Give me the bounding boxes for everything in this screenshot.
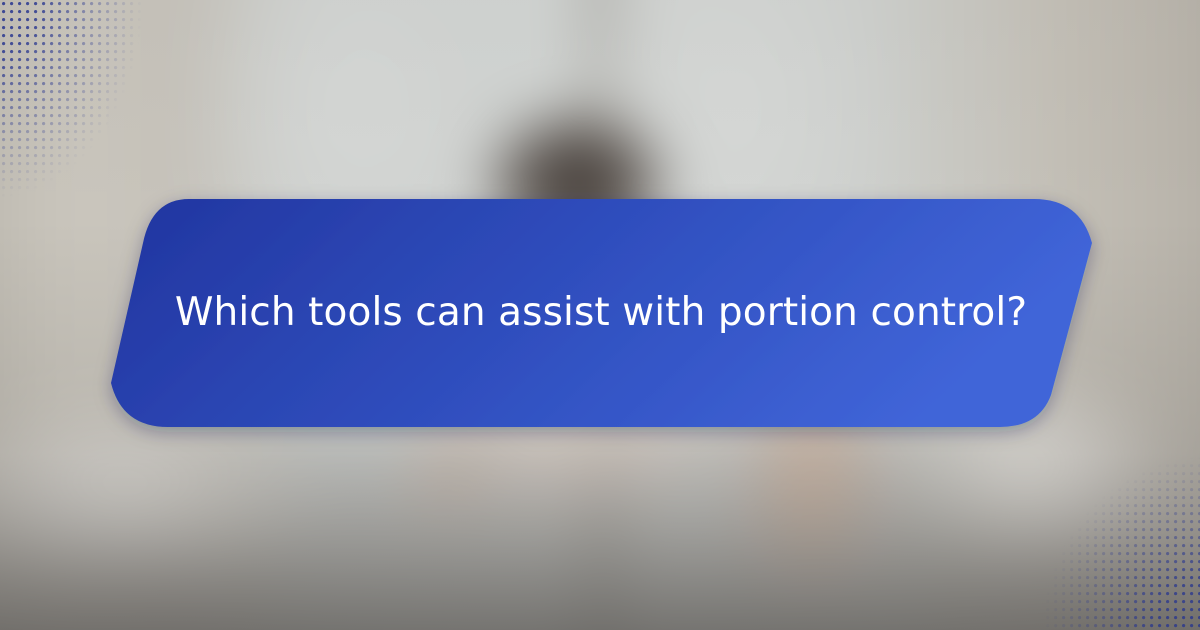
banner-canvas: Which tools can assist with portion cont… xyxy=(0,0,1200,630)
question-text: Which tools can assist with portion cont… xyxy=(120,199,1082,427)
